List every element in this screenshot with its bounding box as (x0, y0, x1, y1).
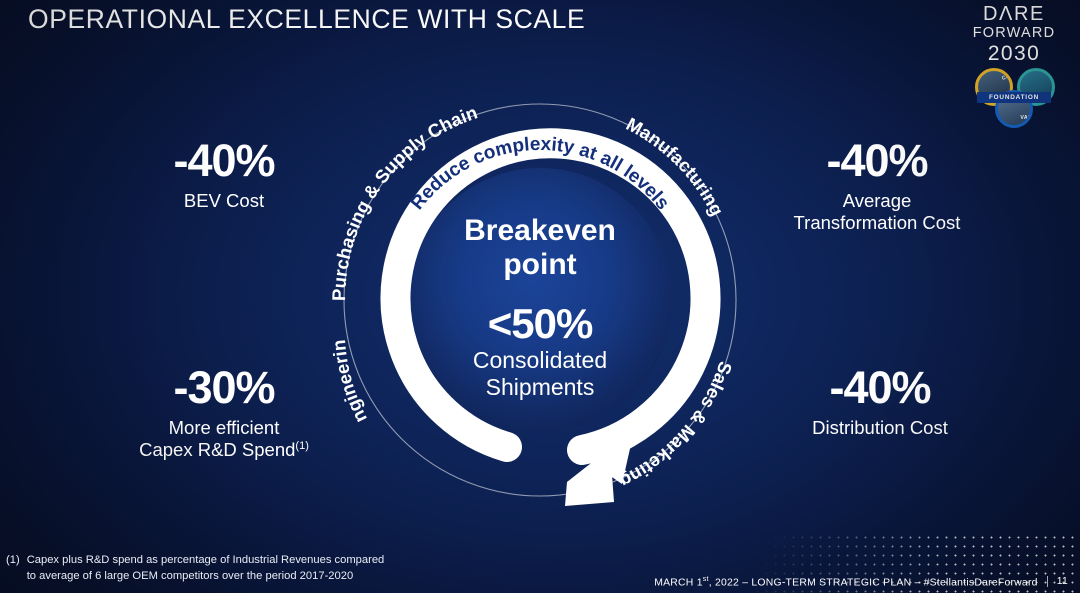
page-title: OPERATIONAL EXCELLENCE WITH SCALE (28, 4, 585, 35)
footer-caption: MARCH 1st, 2022 – LONG-TERM STRATEGIC PL… (654, 576, 1037, 588)
badge-value-label: VALUE (1014, 116, 1033, 121)
logo-forward-text: FORWARD (958, 26, 1070, 41)
dare-forward-logo: DΛRE FORWARD 2030 CARE TECH VALUE FOUNDA… (958, 4, 1070, 130)
slide: OPERATIONAL EXCELLENCE WITH SCALE DΛRE F… (0, 0, 1080, 593)
logo-year-text: 2030 (958, 43, 1070, 64)
center-heading-line1: Breakeven (464, 214, 616, 247)
footnote-marker: (1) (6, 553, 20, 585)
footnote: (1) Capex plus R&D spend as percentage o… (6, 553, 384, 585)
stat-capex-line2: Capex R&D Spend (139, 439, 295, 460)
breakeven-cycle-diagram: Reduce complexity at all levels Purchasi… (282, 48, 798, 528)
logo-brand-text: DΛRE (958, 4, 1070, 24)
footnote-text: Capex plus R&D spend as percentage of In… (27, 553, 385, 585)
center-big-value: <50% (488, 300, 593, 347)
foundation-banner: FOUNDATION (977, 92, 1051, 103)
stat-capex-line1: More efficient (169, 417, 280, 438)
center-sub-line2: Shipments (486, 374, 595, 400)
center-heading-line2: point (503, 248, 576, 281)
footer: MARCH 1st, 2022 – LONG-TERM STRATEGIC PL… (654, 576, 1068, 588)
footer-date-rest: , 2022 – LONG-TERM STRATEGIC PLAN – #Ste… (709, 577, 1038, 588)
footer-page-number: 11 (1057, 576, 1068, 587)
center-sub-line1: Consolidated (473, 347, 607, 373)
badge-tech-label: TECH (1036, 68, 1055, 85)
footer-separator (1047, 576, 1048, 587)
footer-date-prefix: MARCH 1 (654, 577, 703, 588)
badge-care-label: CARE (994, 68, 1013, 85)
pillar-badges: CARE TECH VALUE FOUNDATION (969, 68, 1059, 130)
